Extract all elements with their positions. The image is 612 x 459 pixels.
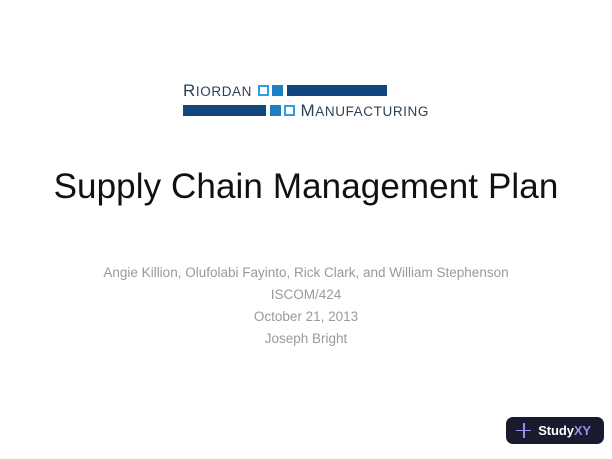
slide-title: Supply Chain Management Plan: [0, 167, 612, 207]
logo-square-solid-bottom: [270, 105, 281, 116]
studyxy-text-accent: XY: [574, 423, 591, 438]
subtitle-date: October 21, 2013: [0, 306, 612, 328]
subtitle-authors: Angie Killion, Olufolabi Fayinto, Rick C…: [0, 262, 612, 284]
logo-bar-top: [287, 85, 387, 96]
studyxy-watermark-badge[interactable]: StudyXY: [506, 417, 604, 444]
slide-subtitle-block: Angie Killion, Olufolabi Fayinto, Rick C…: [0, 262, 612, 350]
subtitle-instructor: Joseph Bright: [0, 328, 612, 350]
logo-square-solid-top: [272, 85, 283, 96]
logo-wordmark-manufacturing: MANUFACTURING: [301, 102, 429, 119]
subtitle-course: ISCOM/424: [0, 284, 612, 306]
logo-manufacturing-rest: ANUFACTURING: [315, 104, 429, 119]
logo-bar-bottom: [183, 105, 266, 116]
logo-manufacturing-capital: M: [301, 101, 316, 120]
logo-wordmark-riordan: RIORDAN: [183, 82, 252, 99]
logo-row-bottom: MANUFACTURING: [183, 101, 429, 120]
presentation-slide: RIORDAN MANUFACTURING Supply Chain Manag…: [0, 0, 612, 459]
riordan-manufacturing-logo: RIORDAN MANUFACTURING: [183, 80, 429, 122]
logo-square-outline-top: [258, 85, 269, 96]
logo-riordan-rest: IORDAN: [196, 84, 252, 99]
studyxy-wordmark: StudyXY: [538, 423, 591, 438]
logo-row-top: RIORDAN: [183, 81, 429, 100]
studyxy-text-primary: Study: [538, 423, 574, 438]
plus-icon: [516, 423, 531, 438]
logo-riordan-capital: R: [183, 81, 196, 100]
logo-square-outline-bottom: [284, 105, 295, 116]
